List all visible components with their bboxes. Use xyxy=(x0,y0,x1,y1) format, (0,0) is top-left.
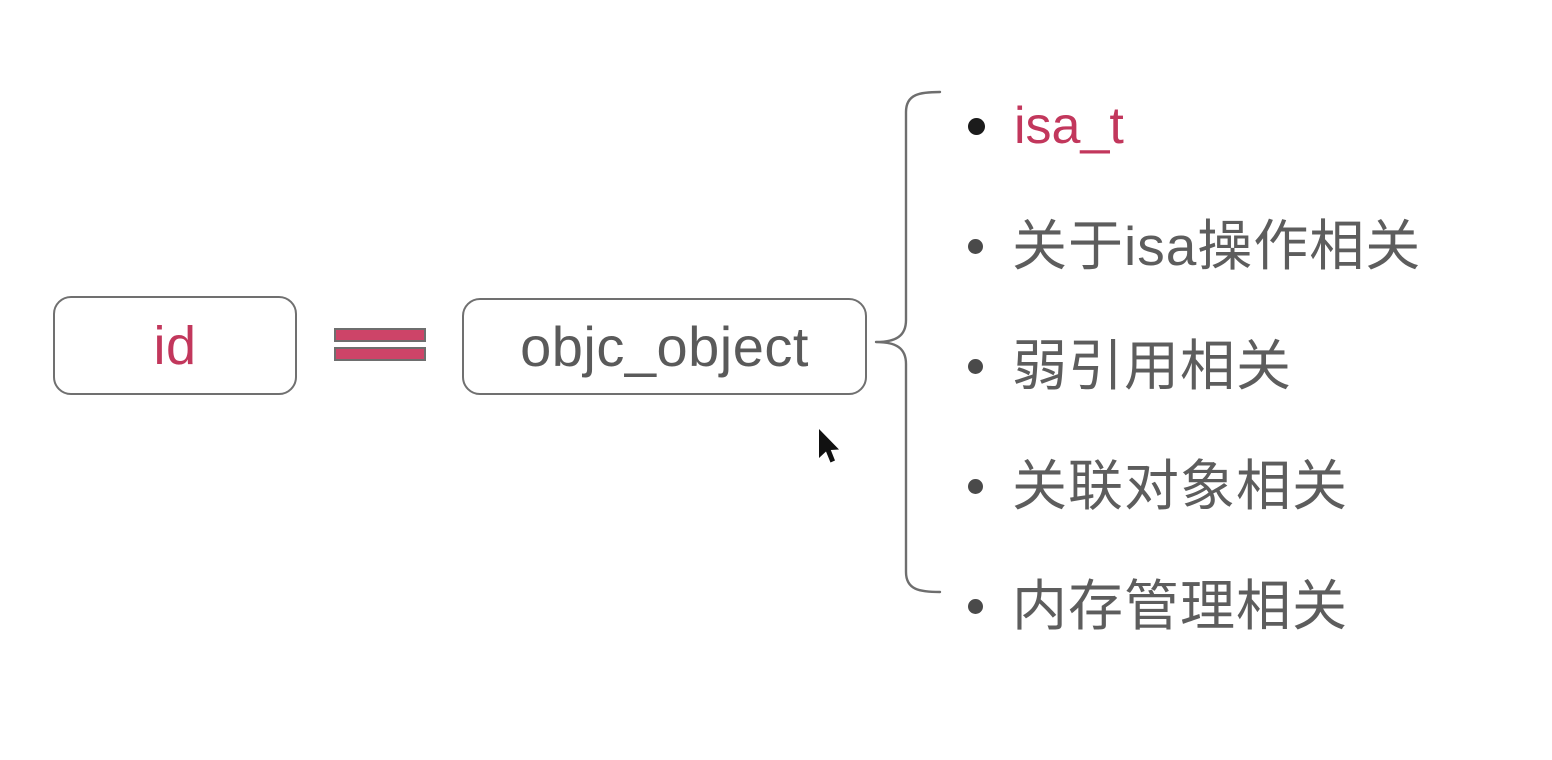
list-item[interactable]: 内存管理相关 xyxy=(968,546,1508,666)
node-box-id[interactable]: id xyxy=(53,296,297,395)
bullet-dot-icon xyxy=(968,239,983,254)
bullet-dot-icon xyxy=(968,359,983,374)
bullet-dot-icon xyxy=(968,479,983,494)
equals-bar-bottom xyxy=(334,347,426,361)
equals-sign-icon xyxy=(334,328,426,364)
list-item[interactable]: 关于isa操作相关 xyxy=(968,186,1508,306)
list-item[interactable]: isa_t xyxy=(968,66,1508,186)
list-item-label: 关于isa操作相关 xyxy=(1012,219,1421,274)
equals-bar-top xyxy=(334,328,426,342)
node-label-objc-object: objc_object xyxy=(520,319,809,375)
diagram-canvas: id objc_object isa_t 关于isa操作相关 弱引用相关 关联对… xyxy=(0,0,1552,760)
list-item[interactable]: 关联对象相关 xyxy=(968,426,1508,546)
bullet-dot-icon xyxy=(968,118,985,135)
list-item-label: 关联对象相关 xyxy=(1012,459,1348,514)
list-item-label: isa_t xyxy=(1014,100,1124,152)
bullet-dot-icon xyxy=(968,599,983,614)
node-label-id: id xyxy=(153,319,196,373)
node-box-objc-object[interactable]: objc_object xyxy=(462,298,867,395)
list-item-label: 弱引用相关 xyxy=(1012,339,1292,394)
curly-brace-icon xyxy=(862,88,954,596)
list-item-label: 内存管理相关 xyxy=(1012,579,1348,634)
member-list: isa_t 关于isa操作相关 弱引用相关 关联对象相关 内存管理相关 xyxy=(968,66,1508,666)
list-item[interactable]: 弱引用相关 xyxy=(968,306,1508,426)
mouse-pointer-icon xyxy=(816,427,842,467)
